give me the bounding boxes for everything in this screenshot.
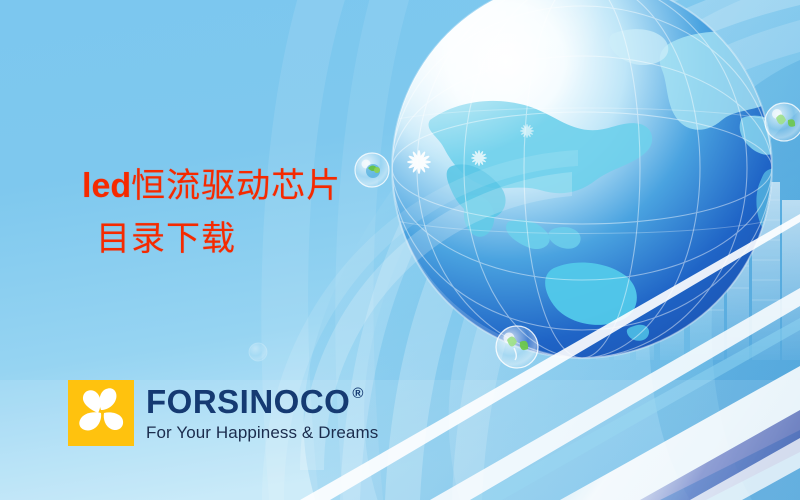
headline-line-1-cjk: 恒流驱动芯片	[131, 168, 341, 205]
brand-wordmark: FORSINOCO® For Your Happiness & Dreams	[146, 385, 378, 441]
brand-name: FORSINOCO®	[146, 385, 378, 418]
bubble-leaf-edge	[765, 103, 800, 141]
brand-name-text: FORSINOCO	[146, 385, 350, 418]
headline-line-1-latin: led	[82, 167, 131, 205]
headline-line-2: 目录下载	[82, 214, 422, 267]
bubble-leaf	[496, 326, 538, 368]
headline-text: led恒流驱动芯片 目录下载	[82, 160, 422, 266]
brand-logo[interactable]: FORSINOCO® For Your Happiness & Dreams	[68, 380, 378, 446]
headline-line-1: led恒流驱动芯片	[82, 160, 422, 214]
forsinoco-pinwheel-mark	[68, 380, 134, 446]
registered-trademark-icon: ®	[352, 386, 364, 401]
pinwheel-icon	[68, 380, 134, 446]
brand-tagline: For Your Happiness & Dreams	[146, 424, 378, 441]
promo-banner: led恒流驱动芯片 目录下载 FORSINOCO® For Your Happi…	[0, 0, 800, 500]
